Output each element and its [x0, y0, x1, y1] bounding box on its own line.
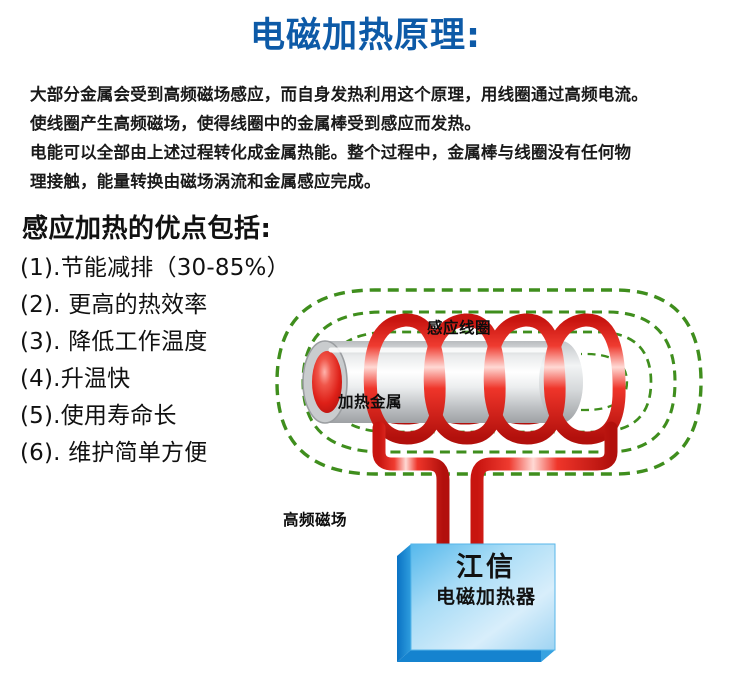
intro-line: 理接触，能量转换由磁场涡流和金属感应完成。 [30, 167, 720, 196]
label-induction-coil: 感应线圈 [427, 316, 491, 338]
intro-line: 电能可以全部由上述过程转化成金属热能。整个过程中，金属棒与线圈没有任何物 [30, 138, 720, 167]
intro-line: 使线圈产生高频磁场，使得线圈中的金属棒受到感应而发热。 [30, 109, 720, 138]
poster-root: 电磁加热原理: 大部分金属会受到高频磁场感应，而自身发热利用这个原理，用线圈通过… [0, 0, 731, 675]
device-brand-text: 江信 [411, 545, 561, 584]
coil-leads [379, 428, 611, 554]
label-heated-metal: 加热金属 [338, 390, 402, 412]
label-magnetic-field: 高频磁场 [283, 508, 347, 530]
page-title: 电磁加热原理: [0, 14, 731, 58]
benefits-heading: 感应加热的优点包括: [22, 208, 271, 245]
device-subtitle-text: 电磁加热器 [411, 582, 561, 609]
intro-line: 大部分金属会受到高频磁场感应，而自身发热利用这个原理，用线圈通过高频电流。 [30, 80, 720, 109]
intro-paragraph: 大部分金属会受到高频磁场感应，而自身发热利用这个原理，用线圈通过高频电流。 使线… [30, 80, 720, 196]
